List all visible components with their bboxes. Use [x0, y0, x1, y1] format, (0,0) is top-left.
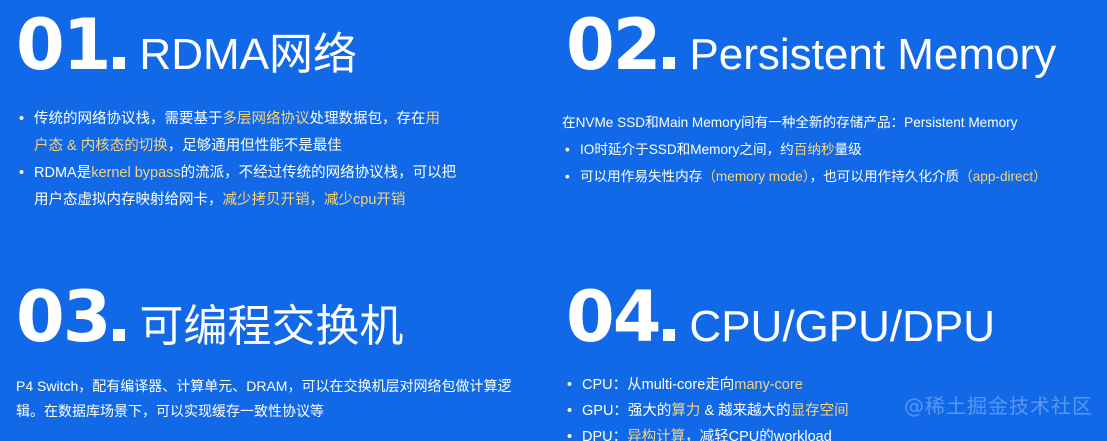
bullet-line: 户态 & 内核态的切换，足够通用但性能不是最佳: [16, 133, 536, 160]
normal-text: 可以用作易失性内存: [580, 169, 702, 184]
normal-text: & 越来越大的: [700, 403, 790, 419]
section-title-04: CPU/GPU/DPU: [689, 305, 995, 349]
normal-text: 处理数据包，存在: [310, 111, 426, 127]
bullet-dot-icon: •: [16, 106, 34, 133]
section-number-03-text: 03: [16, 276, 109, 358]
normal-text: ，足够通用但性能不是最佳: [168, 138, 342, 154]
slide-canvas: 01 RDMA网络 •传统的网络协议栈，需要基于多层网络协议处理数据包，存在用户…: [0, 0, 1107, 441]
section-number-04: 04: [566, 282, 675, 352]
bullet-text: 传统的网络协议栈，需要基于多层网络协议处理数据包，存在用: [34, 106, 536, 133]
section-heading-03: 03 可编程交换机: [16, 282, 536, 352]
section-paragraph-03: P4 Switch，配有编译器、计算单元、DRAM，可以在交换机层对网络包做计算…: [16, 374, 536, 424]
bullet-dot-icon: •: [564, 372, 582, 398]
bullet-dot-icon: •: [16, 160, 34, 187]
bullet-line: •传统的网络协议栈，需要基于多层网络协议处理数据包，存在用: [16, 106, 536, 133]
bullet-text: 用户态虚拟内存映射给网卡，减少拷贝开销，减少cpu开销: [34, 187, 536, 214]
bullet-text: GPU：强大的算力 & 越来越大的显存空间: [582, 398, 1101, 424]
section-number-dot-icon: [663, 329, 675, 341]
bullet-line: •IO时延介于SSD和Memory之间，约百纳秒量级: [562, 136, 1101, 163]
highlighted-text: 显存空间: [791, 403, 849, 419]
section-body-01: •传统的网络协议栈，需要基于多层网络协议处理数据包，存在用户态 & 内核态的切换…: [16, 106, 536, 214]
section-lead-02: 在NVMe SSD和Main Memory间有一种全新的存储产品：Persist…: [562, 110, 1101, 136]
highlighted-text: many-core: [734, 377, 803, 393]
section-number-01-text: 01: [16, 4, 109, 86]
highlighted-text: （memory mode）: [702, 169, 809, 184]
section-number-02-text: 02: [566, 4, 659, 86]
section-number-dot-icon: [663, 57, 675, 69]
normal-text: CPU：从multi-core走向: [582, 377, 734, 393]
normal-text: ，也可以用作持久化介质: [810, 169, 960, 184]
section-panel-02: 02 Persistent Memory 在NVMe SSD和Main Memo…: [554, 0, 1107, 270]
normal-text: GPU：强大的: [582, 403, 671, 419]
section-title-02: Persistent Memory: [689, 33, 1056, 77]
section-body-02: 在NVMe SSD和Main Memory间有一种全新的存储产品：Persist…: [562, 110, 1101, 190]
normal-text: 用户态虚拟内存映射给网卡，: [34, 192, 223, 208]
normal-text: IO时延介于SSD和Memory之间，约: [580, 142, 794, 157]
section-number-01: 01: [16, 10, 125, 80]
section-number-dot-icon: [113, 57, 125, 69]
normal-text: ，减轻CPU的workload: [685, 429, 832, 441]
section-panel-04: 04 CPU/GPU/DPU •CPU：从multi-core走向many-co…: [554, 270, 1107, 441]
normal-text: 的流派，不经过传统的网络协议栈，可以把: [181, 165, 457, 181]
highlighted-text: 算力: [671, 403, 700, 419]
section-panel-01: 01 RDMA网络 •传统的网络协议栈，需要基于多层网络协议处理数据包，存在用户…: [0, 0, 554, 270]
bullet-line: •CPU：从multi-core走向many-core: [564, 372, 1101, 398]
section-body-04: •CPU：从multi-core走向many-core•GPU：强大的算力 & …: [564, 372, 1101, 441]
section-number-02: 02: [566, 10, 675, 80]
section-heading-04: 04 CPU/GPU/DPU: [566, 282, 1101, 352]
normal-text: 传统的网络协议栈，需要基于: [34, 111, 223, 127]
section-heading-01: 01 RDMA网络: [16, 10, 536, 80]
normal-text: 量级: [835, 142, 862, 157]
bullet-text: 可以用作易失性内存（memory mode），也可以用作持久化介质（app-di…: [580, 163, 1101, 190]
section-number-03: 03: [16, 282, 125, 352]
bullet-line: •可以用作易失性内存（memory mode），也可以用作持久化介质（app-d…: [562, 163, 1101, 190]
section-title-03: 可编程交换机: [139, 305, 403, 349]
bullet-line: •RDMA是kernel bypass的流派，不经过传统的网络协议栈，可以把: [16, 160, 536, 187]
section-bullets-02: •IO时延介于SSD和Memory之间，约百纳秒量级•可以用作易失性内存（mem…: [562, 136, 1101, 190]
highlighted-text: 减少拷贝开销，减少cpu开销: [223, 192, 406, 208]
bullet-line: •DPU：异构计算，减轻CPU的workload: [564, 424, 1101, 441]
highlighted-text: 异构计算: [627, 429, 685, 441]
section-panel-03: 03 可编程交换机 P4 Switch，配有编译器、计算单元、DRAM，可以在交…: [0, 270, 554, 441]
section-grid: 01 RDMA网络 •传统的网络协议栈，需要基于多层网络协议处理数据包，存在用户…: [0, 0, 1107, 441]
normal-text: RDMA是: [34, 165, 91, 181]
section-number-04-text: 04: [566, 276, 659, 358]
section-title-01: RDMA网络: [139, 33, 357, 77]
highlighted-text: 多层网络协议: [223, 111, 310, 127]
bullet-text: DPU：异构计算，减轻CPU的workload: [582, 424, 1101, 441]
section-body-03: P4 Switch，配有编译器、计算单元、DRAM，可以在交换机层对网络包做计算…: [16, 374, 536, 424]
highlighted-text: （app-direct）: [959, 169, 1047, 184]
highlighted-text: kernel bypass: [91, 165, 180, 181]
bullet-text: RDMA是kernel bypass的流派，不经过传统的网络协议栈，可以把: [34, 160, 536, 187]
bullet-dot-icon: •: [562, 163, 580, 190]
highlighted-text: 百纳秒: [794, 142, 835, 157]
highlighted-text: 户态 & 内核态的切换: [34, 138, 168, 154]
normal-text: DPU：: [582, 429, 627, 441]
bullet-text: 户态 & 内核态的切换，足够通用但性能不是最佳: [34, 133, 536, 160]
bullet-dot-icon: •: [564, 398, 582, 424]
bullet-text: IO时延介于SSD和Memory之间，约百纳秒量级: [580, 136, 1101, 163]
bullet-text: CPU：从multi-core走向many-core: [582, 372, 1101, 398]
highlighted-text: 用: [426, 111, 441, 127]
bullet-line: •GPU：强大的算力 & 越来越大的显存空间: [564, 398, 1101, 424]
bullet-dot-icon: •: [562, 136, 580, 163]
section-number-dot-icon: [113, 329, 125, 341]
bullet-dot-icon: •: [564, 424, 582, 441]
section-heading-02: 02 Persistent Memory: [566, 10, 1101, 80]
bullet-line: 用户态虚拟内存映射给网卡，减少拷贝开销，减少cpu开销: [16, 187, 536, 214]
